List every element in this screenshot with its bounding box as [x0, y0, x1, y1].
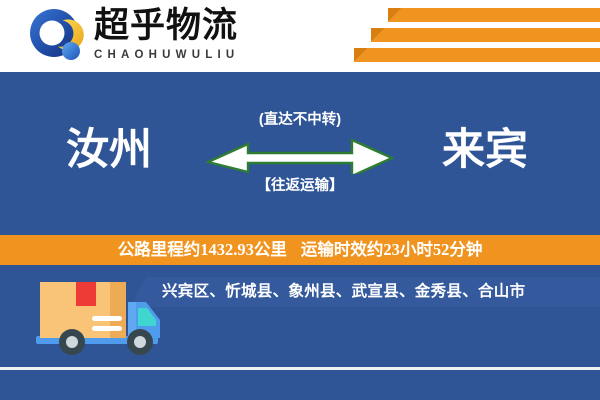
destination-area-panel: 兴宾区、忻城县、象州县、武宣县、金秀县、合山市	[130, 277, 600, 307]
distance-text: 公路里程约1432.93公里	[118, 240, 287, 260]
roundtrip-label: 【往返运输】	[206, 176, 394, 196]
banner-header: 超乎物流 CHAOHUWULIU	[0, 0, 600, 72]
q-circle-logo-icon	[28, 8, 86, 66]
brand-name-en: CHAOHUWULIU	[94, 48, 284, 62]
double-arrow-icon	[206, 132, 394, 174]
route-info-bar: 公路里程约1432.93公里 运输时效约23小时52分钟	[0, 235, 600, 265]
route-middle: (直达不中转) 【往返运输】	[206, 110, 394, 210]
duration-text: 运输时效约23小时52分钟	[301, 240, 483, 260]
delivery-truck-icon	[28, 278, 170, 360]
route-row: 汝州 (直达不中转) 【往返运输】 来宾	[0, 100, 600, 210]
direct-service-label: (直达不中转)	[206, 110, 394, 130]
logistics-route-banner: 超乎物流 CHAOHUWULIU 汝州 (直达不中转)	[0, 0, 600, 400]
decorative-stripes	[290, 6, 600, 68]
brand-text: 超乎物流 CHAOHUWULIU	[94, 6, 284, 62]
road-line	[0, 367, 600, 370]
destination-area-list: 兴宾区、忻城县、象州县、武宣县、金秀县、合山市	[130, 282, 525, 302]
origin-city: 汝州	[24, 124, 194, 178]
brand-name-cn: 超乎物流	[94, 6, 284, 46]
destination-city: 来宾	[400, 124, 570, 178]
